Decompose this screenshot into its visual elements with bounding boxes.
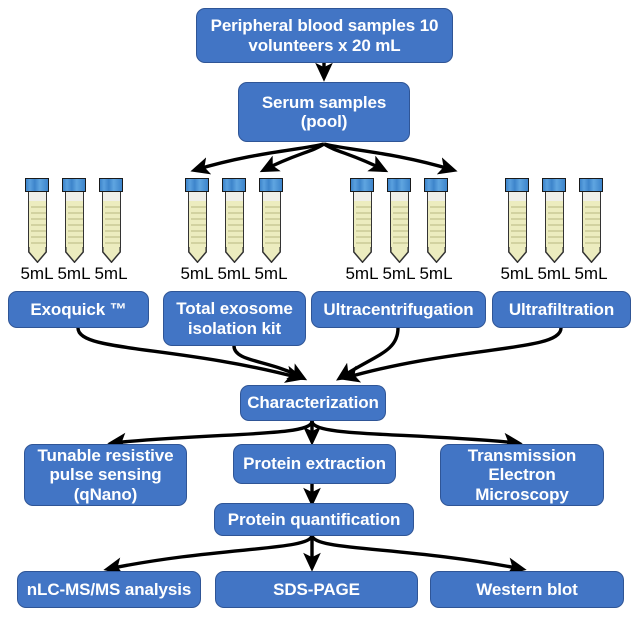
tube-tip xyxy=(508,247,527,263)
tube-neck xyxy=(545,192,564,201)
tube-label-g4-3: 5mL xyxy=(567,265,615,282)
tube-cap-icon xyxy=(505,178,529,192)
node-western-blot[interactable]: Western blot xyxy=(430,571,624,608)
tube-neck xyxy=(102,192,121,201)
edge-uf-to-char xyxy=(345,328,561,378)
tube-body xyxy=(508,201,527,248)
tube-cap-icon xyxy=(99,178,123,192)
tube-g4-2 xyxy=(542,178,566,263)
tube-body xyxy=(427,201,446,248)
tube-body xyxy=(390,201,409,248)
tube-g1-3 xyxy=(99,178,123,263)
tube-tip xyxy=(582,247,601,263)
tube-cap-icon xyxy=(579,178,603,192)
node-nlc-ms-ms-analysis[interactable]: nLC-MS/MS analysis xyxy=(17,571,201,608)
tube-body xyxy=(262,201,281,248)
tube-g3-3 xyxy=(424,178,448,263)
tube-cap-icon xyxy=(25,178,49,192)
tube-g4-1 xyxy=(505,178,529,263)
node-peripheral-blood[interactable]: Peripheral blood samples 10 volunteers x… xyxy=(196,8,453,63)
edge-serum-to-group4 xyxy=(324,144,453,170)
flowchart-canvas: Peripheral blood samples 10 volunteers x… xyxy=(0,0,639,618)
node-sds-page[interactable]: SDS-PAGE xyxy=(215,571,418,608)
node-serum-samples[interactable]: Serum samples (pool) xyxy=(238,82,410,142)
node-protein-extraction[interactable]: Protein extraction xyxy=(233,444,396,484)
node-protein-quantification[interactable]: Protein quantification xyxy=(214,503,414,536)
tube-body xyxy=(28,201,47,248)
tube-tip xyxy=(427,247,446,263)
tube-neck xyxy=(65,192,84,201)
edge-kit-to-char xyxy=(234,346,303,378)
tube-neck xyxy=(508,192,527,201)
tube-cap-icon xyxy=(387,178,411,192)
tube-body xyxy=(545,201,564,248)
tube-neck xyxy=(225,192,244,201)
tube-g2-2 xyxy=(222,178,246,263)
tube-neck xyxy=(427,192,446,201)
tube-cap-icon xyxy=(350,178,374,192)
tube-g3-1 xyxy=(350,178,374,263)
edge-quant-to-wb xyxy=(312,535,522,569)
node-exoquick[interactable]: Exoquick ™ xyxy=(8,291,149,328)
tube-g1-1 xyxy=(25,178,49,263)
node-total-exosome-kit[interactable]: Total exosome isolation kit xyxy=(163,291,306,346)
tube-body xyxy=(188,201,207,248)
tube-cap-icon xyxy=(424,178,448,192)
tube-neck xyxy=(353,192,372,201)
tube-neck xyxy=(390,192,409,201)
node-characterization[interactable]: Characterization xyxy=(240,385,386,421)
edge-serum-to-group2 xyxy=(264,144,324,170)
node-ultrafiltration[interactable]: Ultrafiltration xyxy=(492,291,631,328)
edge-serum-to-group3 xyxy=(324,144,384,170)
edge-uc-to-char xyxy=(340,328,398,378)
tube-tip xyxy=(225,247,244,263)
tube-tip xyxy=(188,247,207,263)
tube-cap-icon xyxy=(222,178,246,192)
tube-tip xyxy=(262,247,281,263)
tube-tip xyxy=(390,247,409,263)
node-transmission-electron-microscopy[interactable]: Transmission Electron Microscopy xyxy=(440,444,604,506)
tube-cap-icon xyxy=(62,178,86,192)
tube-neck xyxy=(582,192,601,201)
tube-body xyxy=(225,201,244,248)
tube-tip xyxy=(65,247,84,263)
node-tunable-resistive-pulse-sensing[interactable]: Tunable resistive pulse sensing (qNano) xyxy=(24,444,187,506)
tube-body xyxy=(582,201,601,248)
tube-g2-1 xyxy=(185,178,209,263)
tube-tip xyxy=(353,247,372,263)
tube-body xyxy=(65,201,84,248)
tube-neck xyxy=(262,192,281,201)
tube-g4-3 xyxy=(579,178,603,263)
edge-char-to-tem xyxy=(312,421,518,443)
tube-cap-icon xyxy=(185,178,209,192)
tube-tip xyxy=(102,247,121,263)
tube-body xyxy=(353,201,372,248)
tube-cap-icon xyxy=(542,178,566,192)
tube-tip xyxy=(545,247,564,263)
tube-neck xyxy=(28,192,47,201)
tube-g3-2 xyxy=(387,178,411,263)
edge-quant-to-nlc xyxy=(108,535,312,569)
tube-cap-icon xyxy=(259,178,283,192)
node-ultracentrifugation[interactable]: Ultracentrifugation xyxy=(311,291,486,328)
tube-label-g2-3: 5mL xyxy=(247,265,295,282)
tube-body xyxy=(102,201,121,248)
edge-char-to-trps xyxy=(112,421,312,443)
edge-serum-to-group1 xyxy=(195,144,324,170)
tube-neck xyxy=(188,192,207,201)
tube-label-g3-3: 5mL xyxy=(412,265,460,282)
tube-g1-2 xyxy=(62,178,86,263)
tube-g2-3 xyxy=(259,178,283,263)
tube-label-g1-3: 5mL xyxy=(87,265,135,282)
tube-tip xyxy=(28,247,47,263)
